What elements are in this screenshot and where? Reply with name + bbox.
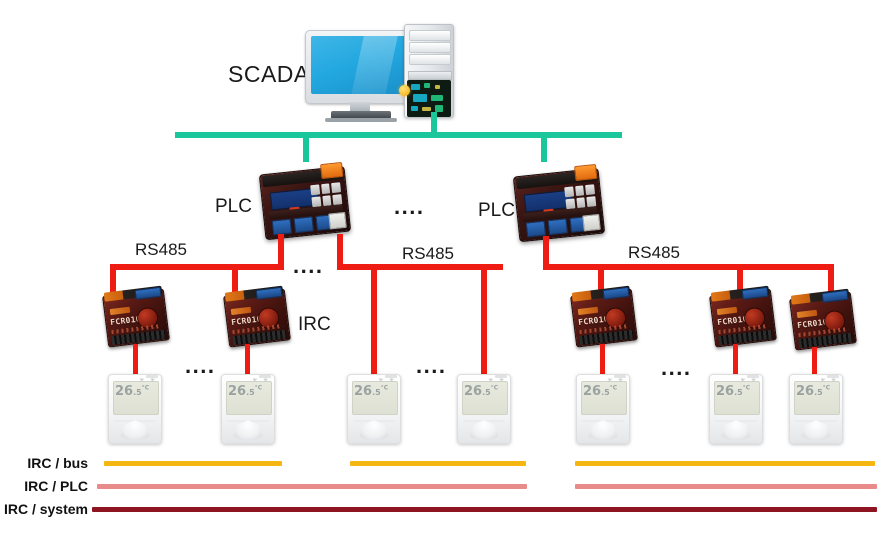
irc-right-ellipsis: .... xyxy=(661,357,691,379)
room-unit-temperature: 26.5°C xyxy=(115,385,149,398)
scada-computer-icon xyxy=(300,22,460,122)
ethernet-drop-plc-right xyxy=(541,136,547,162)
legend-label-irc-plc: IRC / PLC xyxy=(0,478,88,494)
irc-module-5: FCR010 xyxy=(789,291,857,350)
room-unit-temperature: 26.5°C xyxy=(796,385,830,398)
room-unit-status-icons: ✳ ✳ xyxy=(488,377,506,384)
room-unit-temperature: 26.5°C xyxy=(583,385,617,398)
rs485-mid-bus xyxy=(337,264,503,270)
irc-module-3: FCR010 xyxy=(570,288,638,347)
monitor-stand-foot xyxy=(325,118,397,122)
ethernet-bus-line xyxy=(175,132,622,138)
rs485-mid-label: RS485 xyxy=(402,244,454,264)
room-unit-1: ✳ ✳ 26.5°C xyxy=(108,374,162,444)
plc-ellipsis: .... xyxy=(394,196,424,218)
room-unit-temperature: 26.5°C xyxy=(464,385,498,398)
legend-bar-irc-bus-seg2 xyxy=(350,461,526,466)
irc-left-ellipsis: .... xyxy=(185,355,215,377)
room-unit-temperature: 26.5°C xyxy=(716,385,750,398)
plc-rj45-port-icon xyxy=(328,212,347,230)
rs485-left-ellipsis: .... xyxy=(293,255,323,277)
legend-label-irc-bus: IRC / bus xyxy=(0,455,88,471)
irc-module-2: FCR010 xyxy=(223,288,291,347)
irc-drop-4 xyxy=(733,344,738,374)
room-unit-status-icons: ✳ ✳ xyxy=(378,377,396,384)
room-unit-temperature: 26.5°C xyxy=(228,385,262,398)
room-unit-3: ✳ ✳ 26.5°C xyxy=(347,374,401,444)
plc-right-label: PLC xyxy=(478,200,515,222)
rs485-right-bus xyxy=(543,264,834,270)
scada-label: SCADA xyxy=(228,61,310,88)
irc-drop-5 xyxy=(812,347,817,375)
plc-power-terminal-icon xyxy=(574,164,597,181)
plc-power-terminal-icon xyxy=(320,162,343,179)
plc-left-label: PLC xyxy=(215,196,252,218)
tower-panel-strip xyxy=(408,71,452,80)
irc-drop-2 xyxy=(245,344,250,374)
rs485-mid-drop-2 xyxy=(481,264,487,374)
plc-keypad-icon xyxy=(310,182,342,207)
rs485-left-bus xyxy=(110,264,284,270)
plc-rj45-port-icon xyxy=(582,214,601,232)
room-unit-status-icons: ✳ ✳ xyxy=(607,377,625,384)
tower-bay xyxy=(409,54,451,65)
rs485-mid-drop-1 xyxy=(371,264,377,374)
rs485-mid-ellipsis: .... xyxy=(416,355,446,377)
rs485-left-drop-1 xyxy=(110,264,116,292)
screen-glare xyxy=(349,36,399,94)
room-unit-status-icons: ✳ ✳ xyxy=(139,377,157,384)
plc-right-device xyxy=(513,168,605,243)
room-unit-7: ✳ ✳ 26.5°C xyxy=(789,374,843,444)
legend-bar-irc-plc-seg2 xyxy=(575,484,877,489)
pc-tower-icon xyxy=(404,24,454,118)
tower-bay xyxy=(409,30,451,41)
legend-bar-irc-system xyxy=(92,507,877,512)
room-unit-6: ✳ ✳ 26.5°C xyxy=(709,374,763,444)
diagram-canvas: SCADA xyxy=(0,0,885,543)
power-led-icon xyxy=(399,85,410,96)
room-unit-5: ✳ ✳ 26.5°C xyxy=(576,374,630,444)
legend-bar-irc-bus-seg1 xyxy=(104,461,282,466)
legend-label-irc-system: IRC / system xyxy=(0,501,88,517)
monitor-screen xyxy=(311,36,411,94)
room-unit-status-icons: ✳ ✳ xyxy=(740,377,758,384)
tower-bay xyxy=(409,42,451,53)
room-unit-status-icons: ✳ ✳ xyxy=(820,377,838,384)
rs485-right-drop-3 xyxy=(828,264,834,292)
room-unit-status-icons: ✳ ✳ xyxy=(252,377,270,384)
plc-left-device xyxy=(259,166,351,241)
rs485-left-label: RS485 xyxy=(135,240,187,260)
tower-circuit-board xyxy=(407,80,451,117)
irc-drop-1 xyxy=(133,344,138,374)
legend-bar-irc-bus-seg3 xyxy=(575,461,875,466)
room-unit-temperature: 26.5°C xyxy=(354,385,388,398)
room-unit-4: ✳ ✳ 26.5°C xyxy=(457,374,511,444)
room-unit-2: ✳ ✳ 26.5°C xyxy=(221,374,275,444)
irc-module-4: FCR010 xyxy=(709,288,777,347)
rs485-left-drop-2 xyxy=(232,264,238,292)
rs485-right-label: RS485 xyxy=(628,243,680,263)
irc-module-1: FCR010 xyxy=(102,288,170,347)
irc-label: IRC xyxy=(298,314,331,336)
ethernet-drop-plc-left xyxy=(303,136,309,162)
irc-drop-3 xyxy=(600,344,605,374)
plc-keypad-icon xyxy=(564,184,596,209)
legend-bar-irc-plc-seg1 xyxy=(97,484,527,489)
